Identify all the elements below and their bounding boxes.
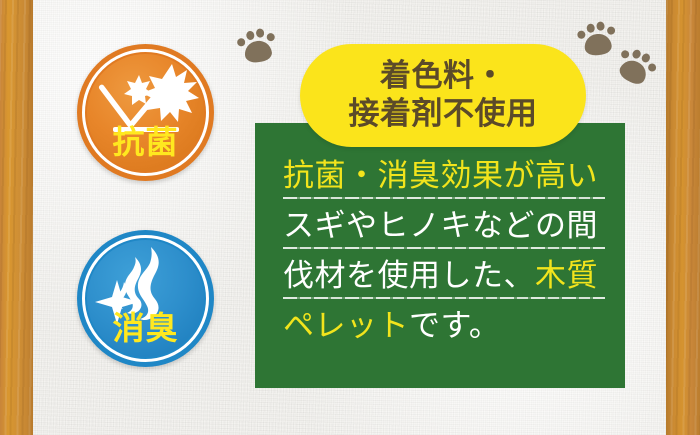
green-panel-line: スギやヒノキなどの間 bbox=[283, 201, 603, 251]
badge-deodorizing: 消臭 bbox=[77, 230, 214, 367]
green-line-4-segment-1: ペレット bbox=[283, 308, 409, 344]
no-colorant-no-adhesive-pill: 着色料・ 接着剤不使用 bbox=[300, 44, 586, 147]
wood-border-left bbox=[0, 0, 33, 435]
badge-antibacterial: 抗菌 bbox=[77, 44, 214, 181]
chalk-rule bbox=[283, 247, 605, 249]
green-panel-text: 抗菌・消臭効果が高い スギやヒノキなどの間 伐材を使用した、木質 ペレットです。 bbox=[283, 151, 603, 351]
green-line-1-segment-1: 抗菌・消臭効果が高い bbox=[283, 158, 598, 194]
pill-line-1: 着色料・ bbox=[380, 58, 506, 96]
paw-print-icon bbox=[234, 24, 281, 69]
badge-antibacterial-label: 抗菌 bbox=[77, 126, 214, 158]
pill-text: 着色料・ 接着剤不使用 bbox=[300, 44, 586, 147]
green-line-3-segment-1: 伐材を使用した、 bbox=[283, 258, 535, 294]
green-panel-line: ペレットです。 bbox=[283, 301, 603, 351]
green-line-3-segment-2: 木質 bbox=[535, 258, 598, 294]
green-panel-line: 抗菌・消臭効果が高い bbox=[283, 151, 603, 201]
pill-line-2: 接着剤不使用 bbox=[349, 96, 538, 134]
green-line-4-segment-2: です。 bbox=[409, 308, 500, 344]
green-line-2-segment-1: スギやヒノキなどの間 bbox=[283, 208, 598, 244]
green-info-panel: 抗菌・消臭効果が高い スギやヒノキなどの間 伐材を使用した、木質 ペレットです。 bbox=[255, 123, 625, 388]
chalk-rule bbox=[283, 297, 605, 299]
badge-deodorizing-label: 消臭 bbox=[77, 312, 214, 344]
promo-banner: 抗菌・消臭効果が高い スギやヒノキなどの間 伐材を使用した、木質 ペレットです。 bbox=[0, 0, 700, 435]
wood-border-right bbox=[666, 0, 700, 435]
green-panel-line: 伐材を使用した、木質 bbox=[283, 251, 603, 301]
chalk-rule bbox=[283, 197, 605, 199]
